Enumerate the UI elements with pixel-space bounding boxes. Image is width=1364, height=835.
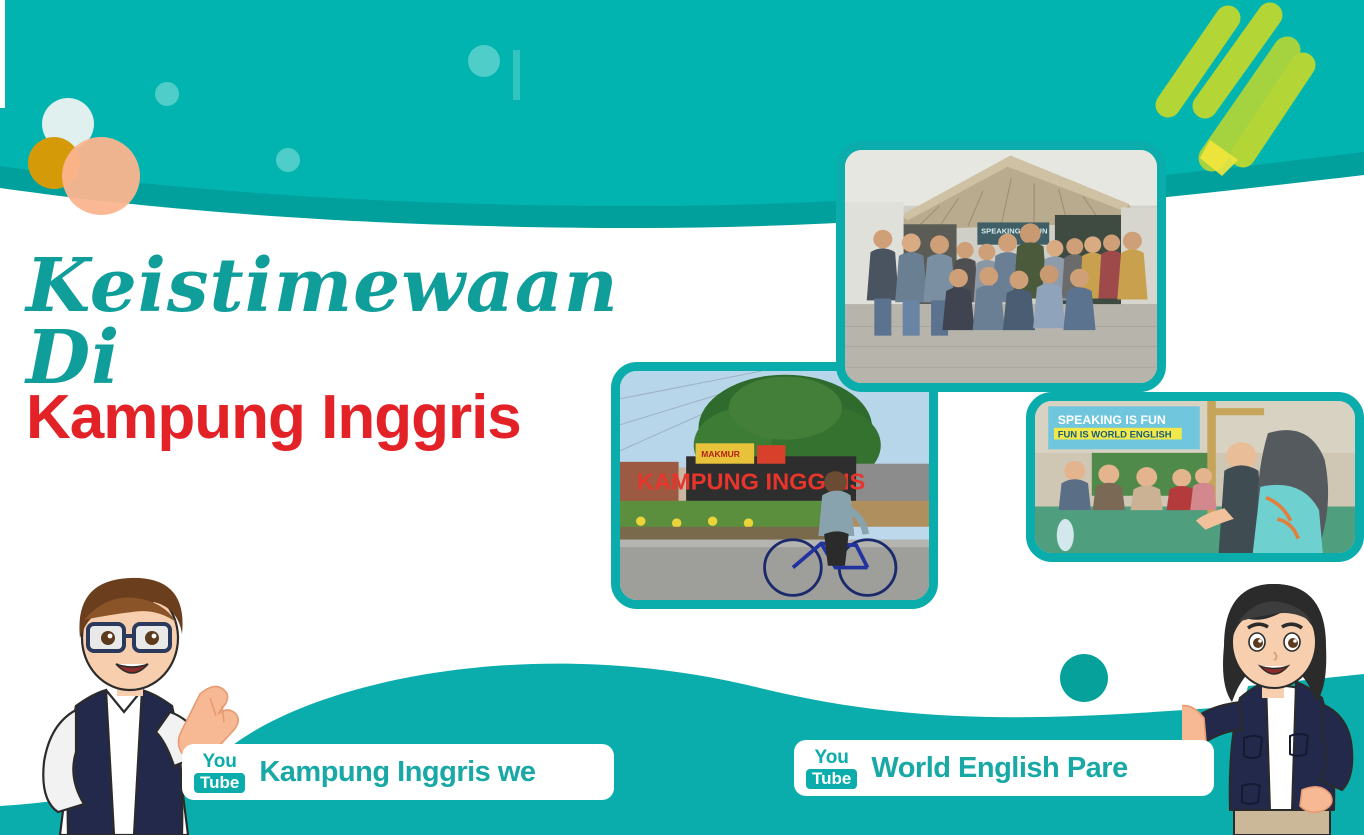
classroom-banner-line1: SPEAKING IS FUN — [1058, 414, 1166, 428]
lime-stripe-tail — [1200, 140, 1238, 176]
youtube-banner-left[interactable]: You Tube Kampung Inggris we — [182, 744, 614, 800]
water-bottle — [1057, 519, 1074, 551]
youtube-icon-bottom: Tube — [806, 769, 857, 789]
classroom-banner-line2: FUN IS WORLD ENGLISH — [1058, 430, 1172, 440]
teal-dot-3 — [468, 45, 500, 77]
youtube-channel-name-left: Kampung Inggris we — [259, 756, 535, 789]
lime-stripe-3 — [1243, 65, 1303, 155]
teal-vertical-bar — [513, 50, 520, 100]
headline-line-2: Di — [26, 324, 626, 392]
youtube-banner-right[interactable]: You Tube World English Pare — [794, 740, 1214, 796]
youtube-icon-top: You — [814, 748, 848, 767]
headline-line-1: Keistimewaan — [26, 252, 626, 320]
street-photo-illustration: MAKMUR KAMPUNG INGGRIS — [620, 371, 929, 600]
lime-stripe-2 — [1205, 15, 1270, 106]
girl-mascot — [1182, 578, 1364, 835]
youtube-icon: You Tube — [806, 748, 857, 789]
group-photo-illustration: SPEAKING IS FUN — [845, 150, 1157, 383]
shop-sign-text: MAKMUR — [701, 449, 740, 459]
youtube-icon-bottom: Tube — [194, 773, 245, 793]
lime-stripe-1 — [1168, 18, 1228, 105]
crouching-row — [942, 265, 1095, 330]
classroom-photo-illustration: SPEAKING IS FUN FUN IS WORLD ENGLISH — [1035, 401, 1355, 553]
lime-stripe-4 — [1212, 50, 1287, 158]
girl-jacket-left — [1230, 682, 1270, 810]
headline-block: Keistimewaan Di Kampung Inggris — [26, 252, 626, 449]
mint-circle — [42, 98, 94, 150]
poster-canvas: Keistimewaan Di Kampung Inggris SPEAKING… — [0, 0, 1364, 835]
street-sign-photo-frame[interactable]: MAKMUR KAMPUNG INGGRIS — [611, 362, 938, 609]
youtube-icon-top: You — [202, 752, 236, 771]
youtube-channel-name-right: World English Pare — [871, 752, 1127, 785]
peach-circle — [62, 137, 140, 215]
street-sign-photo-inner: MAKMUR KAMPUNG INGGRIS — [620, 371, 929, 600]
teal-dot-1 — [155, 82, 179, 106]
girl-hand-right — [1300, 787, 1332, 812]
classroom-photo-inner: SPEAKING IS FUN FUN IS WORLD ENGLISH — [1035, 401, 1355, 553]
classroom-photo-frame[interactable]: SPEAKING IS FUN FUN IS WORLD ENGLISH — [1026, 392, 1364, 562]
top-left-white-sliver — [0, 0, 5, 108]
group-photo-frame[interactable]: SPEAKING IS FUN — [836, 141, 1166, 392]
youtube-icon: You Tube — [194, 752, 245, 793]
headline-line-3: Kampung Inggris — [26, 386, 626, 449]
gold-circle — [28, 137, 80, 189]
group-photo-inner: SPEAKING IS FUN — [845, 150, 1157, 383]
teal-dot-2 — [276, 148, 300, 172]
bottom-teal-circle — [1060, 654, 1108, 702]
